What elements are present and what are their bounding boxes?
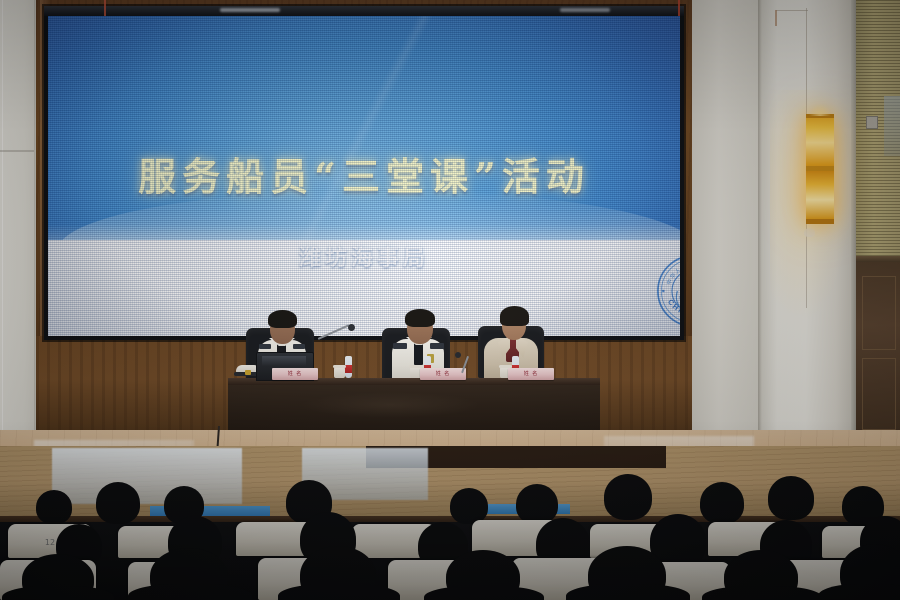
audience-shoulders: [424, 586, 544, 600]
wood-wainscot: [856, 262, 900, 442]
audience-head: [36, 490, 72, 524]
audience-shoulders: [566, 584, 690, 600]
sconce-mid-band: [806, 166, 834, 171]
sconce-uplight: [809, 104, 831, 116]
pillar-right-edge: [851, 0, 856, 430]
wall-trim-stub: [775, 10, 777, 26]
pillar-left-edge: [758, 0, 762, 430]
presentation-title: 服务船员“三堂课”活动: [48, 146, 680, 201]
audience-head: [516, 484, 558, 524]
svg-text:中华人民共和国海事局: 中华人民共和国海事局: [665, 261, 680, 288]
audience-shoulders: [128, 584, 252, 600]
sconce-bottom-cap: [806, 219, 834, 224]
audience-shoulders: [278, 584, 400, 600]
china-msa-logo: 中华人民共和国海事局 CHINA MSA: [654, 252, 680, 330]
presentation-subtitle: 潍坊海事局: [48, 240, 680, 272]
audience-shoulders: [2, 586, 114, 600]
wall-switch[interactable]: [866, 116, 878, 129]
wall-trim-horizontal: [776, 10, 808, 11]
audience-head: [768, 476, 814, 520]
audience-head: [96, 482, 140, 524]
audience-head: [450, 488, 488, 524]
audience-shoulders: [702, 586, 822, 600]
bezel-reflection-right: [560, 8, 610, 12]
wall-panel-middle: [690, 0, 762, 430]
audience-head: [700, 482, 744, 524]
audience-shoulders: [818, 584, 900, 600]
right-light-slit: [884, 96, 900, 156]
audience-head: [604, 474, 652, 520]
bezel-reflection-left: [220, 8, 280, 12]
left-wall-trim: [2, 0, 3, 432]
wall-fixture-spot: [804, 228, 815, 237]
conference-hall-photo: 服务船员“三堂课”活动 潍坊海事局: [0, 0, 900, 600]
screen-lower-wood-panel: [36, 336, 692, 432]
left-wall-shadow-line: [0, 150, 36, 152]
led-presentation-screen[interactable]: 服务船员“三堂课”活动 潍坊海事局: [48, 16, 680, 336]
audience-window-glow-left: [52, 448, 242, 504]
audience-area: 12: [0, 446, 900, 600]
wall-sconce[interactable]: [806, 114, 834, 224]
